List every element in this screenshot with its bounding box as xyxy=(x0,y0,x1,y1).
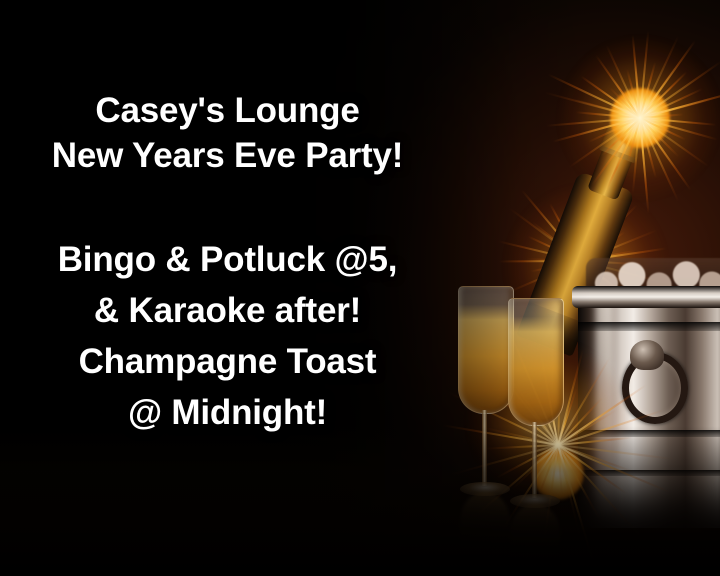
detail-line-3: Champagne Toast xyxy=(0,336,455,387)
title-line-1: Casey's Lounge xyxy=(0,88,455,133)
poster-title: Casey's Lounge New Years Eve Party! xyxy=(0,88,455,178)
title-line-2: New Years Eve Party! xyxy=(0,133,455,178)
detail-line-1: Bingo & Potluck @5, xyxy=(0,234,455,285)
poster-details: Bingo & Potluck @5, & Karaoke after! Cha… xyxy=(0,234,455,438)
bottom-darkening-overlay xyxy=(0,426,720,576)
new-years-eve-party-poster: Casey's Lounge New Years Eve Party! Bing… xyxy=(0,0,720,576)
detail-line-4: @ Midnight! xyxy=(0,387,455,438)
detail-line-2: & Karaoke after! xyxy=(0,285,455,336)
